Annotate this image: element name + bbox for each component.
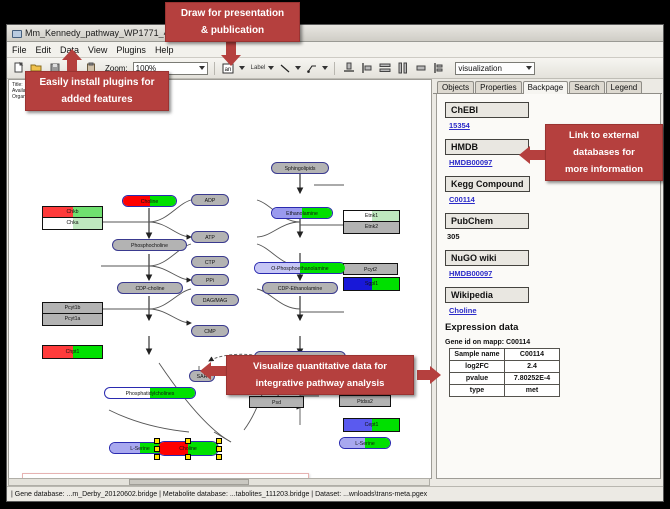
gene-label: Pcyt2 xyxy=(364,267,377,273)
callout-draw-arrow xyxy=(221,55,241,66)
db-header-hmdb: HMDB xyxy=(445,139,529,155)
node-atp[interactable]: ATP xyxy=(191,231,229,243)
chevron-down-icon[interactable] xyxy=(239,66,245,70)
tab-legend[interactable]: Legend xyxy=(606,81,643,93)
node-l-serine-right[interactable]: L-Serine xyxy=(339,437,391,449)
new-file-icon[interactable] xyxy=(11,61,26,76)
gene-pcyt2[interactable]: Pcyt2 xyxy=(343,263,398,275)
cell-value: met xyxy=(505,385,560,397)
menu-help[interactable]: Help xyxy=(155,45,174,55)
table-row: type met xyxy=(450,385,560,397)
node-sphingolipids[interactable]: Sphingolipids xyxy=(271,162,329,174)
node-label: Phosphatidylcholines xyxy=(105,388,195,399)
gene-group-pcyt1[interactable]: Pcyt1b Pcyt1a xyxy=(42,302,103,326)
menu-edit[interactable]: Edit xyxy=(36,45,52,55)
gene-id-line: Gene id on mapp: C00114 xyxy=(445,339,660,346)
selection-handle[interactable] xyxy=(216,446,222,452)
node-label: Phosphocholine xyxy=(131,243,168,249)
gene-label: Psd xyxy=(272,400,281,406)
callout-links-line1: Link to external xyxy=(546,125,662,146)
gene-label: Etnk1 xyxy=(344,211,399,222)
node-label: DAG/MAG xyxy=(203,298,228,304)
callout-plugins-line1: Easily install plugins for xyxy=(26,72,168,93)
pathvisio-app-icon xyxy=(11,28,21,38)
callout-plugins: Easily install plugins for added feature… xyxy=(25,71,169,111)
gene-pcyt1a[interactable]: Pcyt1a xyxy=(43,314,102,325)
callout-plugins-line2: added features xyxy=(26,93,168,110)
statusbar: | Gene database: ...m_Derby_20120602.bri… xyxy=(7,486,663,501)
cell-value: 2.4 xyxy=(505,361,560,373)
svg-text:an: an xyxy=(225,67,232,73)
selection-handle[interactable] xyxy=(185,454,191,460)
gene-ptdss2[interactable]: Ptdss2 xyxy=(339,395,391,407)
gene-etnk2[interactable]: Etnk2 xyxy=(344,222,399,233)
menubar: File Edit Data View Plugins Help xyxy=(7,42,663,58)
selection-handle[interactable] xyxy=(216,454,222,460)
chevron-down-icon[interactable] xyxy=(322,66,328,70)
visualization-value: visualization xyxy=(458,64,502,73)
window-titlebar: Mm_Kennedy_pathway_WP1771_45176.gpml xyxy=(7,25,663,42)
selection-handle[interactable] xyxy=(154,454,160,460)
db-section-nugo: NuGO wiki HMDB00097 xyxy=(445,248,660,278)
gene-label: Pcyt1b xyxy=(65,305,81,311)
callout-visualize-arrow xyxy=(200,362,211,380)
node-ethanolamine-top[interactable]: Ethanolamine xyxy=(271,207,333,219)
cell-value: 7.80252E-4 xyxy=(505,373,560,385)
pathway-canvas[interactable]: Title: Availa Organ xyxy=(8,79,432,479)
node-label: CMP xyxy=(204,329,216,335)
tab-search[interactable]: Search xyxy=(569,81,604,93)
side-panel-tabs: Objects Properties Backpage Search Legen… xyxy=(433,79,662,94)
node-dag-mag[interactable]: DAG/MAG xyxy=(191,294,239,306)
callout-visualize: Visualize quantitative data for integrat… xyxy=(226,355,414,395)
db-header-pubchem: PubChem xyxy=(445,213,529,229)
node-choline-top[interactable]: Choline xyxy=(122,195,177,207)
db-link-kegg[interactable]: C00114 xyxy=(449,195,660,204)
db-link-wikipedia[interactable]: Choline xyxy=(449,306,660,315)
callout-links: Link to external databases for more info… xyxy=(545,124,663,181)
align-left-icon[interactable] xyxy=(359,61,374,76)
table-row: pvalue 7.80252E-4 xyxy=(450,373,560,385)
toolbar-separator xyxy=(334,62,335,75)
callout-links-arrow xyxy=(519,146,530,164)
node-label: Sphingolipids xyxy=(285,166,316,172)
gene-etnk1[interactable]: Etnk1 xyxy=(344,211,399,222)
line-tool-icon[interactable] xyxy=(277,61,292,76)
node-adp[interactable]: ADP xyxy=(191,194,229,206)
menu-file[interactable]: File xyxy=(12,45,27,55)
cell-label: pvalue xyxy=(450,373,505,385)
distribute-vertical-icon[interactable] xyxy=(377,61,392,76)
node-o-phosphoethanolamine[interactable]: O-Phosphoethanolamine xyxy=(254,262,346,274)
node-ctp[interactable]: CTP xyxy=(191,256,229,268)
db-section-pubchem: PubChem 305 xyxy=(445,211,660,241)
screenshot-root: Mm_Kennedy_pathway_WP1771_45176.gpml Fil… xyxy=(0,0,670,509)
interaction-tool-icon[interactable] xyxy=(304,61,319,76)
node-cmp[interactable]: CMP xyxy=(191,325,229,337)
tab-backpage[interactable]: Backpage xyxy=(523,81,569,94)
gene-chpt1[interactable]: Chpt1 xyxy=(42,345,103,359)
node-phosphatidylcholines[interactable]: Phosphatidylcholines xyxy=(104,387,196,399)
node-label: PPi xyxy=(206,278,214,284)
callout-visualize-line2: integrative pathway analysis xyxy=(227,377,413,394)
common-width-icon[interactable] xyxy=(413,61,428,76)
chevron-down-icon[interactable] xyxy=(295,66,301,70)
node-label: CTP xyxy=(205,260,215,266)
align-top-icon[interactable] xyxy=(341,61,356,76)
label-tool[interactable]: Label xyxy=(251,65,266,71)
node-ppi[interactable]: PPi xyxy=(191,274,229,286)
tab-properties[interactable]: Properties xyxy=(475,81,521,93)
selection-handle[interactable] xyxy=(216,438,222,444)
menu-plugins[interactable]: Plugins xyxy=(116,45,146,55)
callout-plugins-arrow xyxy=(62,49,82,60)
visualization-combobox[interactable]: visualization xyxy=(455,62,535,75)
node-label: CDP-Ethanolamine xyxy=(278,286,322,292)
gene-chkb[interactable]: Chkb xyxy=(43,207,102,218)
db-value-pubchem: 305 xyxy=(447,232,660,241)
gene-label: Chkb xyxy=(43,207,102,218)
node-label: Choline xyxy=(123,196,176,207)
expression-table: Sample name C00114 log2FC 2.4 pvalue 7.8… xyxy=(449,348,560,397)
stack-left-icon[interactable] xyxy=(431,61,446,76)
expression-data-title: Expression data xyxy=(445,322,660,333)
toolbar-separator xyxy=(214,62,215,75)
tab-objects[interactable]: Objects xyxy=(437,81,474,93)
gene-chka[interactable]: Chka xyxy=(43,218,102,229)
node-label: L-Serine xyxy=(340,438,390,449)
cell-value: C00114 xyxy=(505,349,560,361)
gene-label: Chpt1 xyxy=(43,346,102,358)
node-cdp-choline[interactable]: CDP-choline xyxy=(117,282,183,294)
cell-label: Sample name xyxy=(450,349,505,361)
gene-label: Chka xyxy=(43,218,102,229)
table-row: log2FC 2.4 xyxy=(450,361,560,373)
callout-links-line2: databases for xyxy=(546,146,662,163)
gene-group-etnk[interactable]: Etnk1 Etnk2 xyxy=(343,210,400,234)
callout-links-line3: more information xyxy=(546,163,662,180)
gene-pcyt1b[interactable]: Pcyt1b xyxy=(43,303,102,314)
gene-group-chk[interactable]: Chkb Chka xyxy=(42,206,103,230)
callout-draw-line2: & publication xyxy=(166,24,299,41)
node-label: O-Phosphoethanolamine xyxy=(255,263,345,274)
callout-visualize-line1: Visualize quantitative data for xyxy=(227,356,413,377)
node-label: CDP-choline xyxy=(135,286,164,292)
callout-visualize-arrow-right xyxy=(430,366,441,384)
statusbar-text: | Gene database: ...m_Derby_20120602.bri… xyxy=(7,491,427,498)
table-row: Sample name C00114 xyxy=(450,349,560,361)
node-choline-selected[interactable]: Choline xyxy=(157,441,219,456)
node-phosphocholine[interactable]: Phosphocholine xyxy=(112,239,187,251)
gene-sgpl1[interactable]: Sgpl1 xyxy=(343,277,400,291)
db-section-wikipedia: Wikipedia Choline xyxy=(445,285,660,315)
gene-label: Pcyt1a xyxy=(65,316,81,322)
scrollbar-thumb[interactable] xyxy=(129,479,249,485)
gene-label: Sgpl1 xyxy=(344,278,399,290)
chevron-down-icon xyxy=(199,66,205,70)
selection-handle[interactable] xyxy=(154,446,160,452)
callout-draw-line1: Draw for presentation xyxy=(166,3,299,24)
cell-label: log2FC xyxy=(450,361,505,373)
callout-draw: Draw for presentation & publication xyxy=(165,2,300,42)
gene-label: Ptdss2 xyxy=(357,399,373,405)
chevron-down-icon[interactable] xyxy=(268,66,274,70)
node-label: ADP xyxy=(205,198,216,204)
node-label: ATP xyxy=(205,235,215,241)
chevron-down-icon xyxy=(526,66,532,70)
db-header-chebi: ChEBI xyxy=(445,102,529,118)
node-cdp-ethanolamine[interactable]: CDP-Ethanolamine xyxy=(262,282,338,294)
db-link-nugo[interactable]: HMDB00097 xyxy=(449,269,660,278)
gene-cept1[interactable]: Cept1 xyxy=(343,418,400,432)
db-header-nugo: NuGO wiki xyxy=(445,250,529,266)
db-header-kegg: Kegg Compound xyxy=(445,176,530,192)
cell-label: type xyxy=(450,385,505,397)
db-header-wikipedia: Wikipedia xyxy=(445,287,529,303)
menu-view[interactable]: View xyxy=(88,45,107,55)
distribute-horizontal-icon[interactable] xyxy=(395,61,410,76)
canvas-horizontal-scrollbar[interactable] xyxy=(8,478,430,486)
gene-label: Cept1 xyxy=(344,419,399,431)
gene-psd[interactable]: Psd xyxy=(249,396,304,408)
gene-label: Etnk2 xyxy=(365,224,378,230)
selection-handle[interactable] xyxy=(154,438,160,444)
selection-handle[interactable] xyxy=(185,438,191,444)
node-label: Ethanolamine xyxy=(272,208,332,219)
